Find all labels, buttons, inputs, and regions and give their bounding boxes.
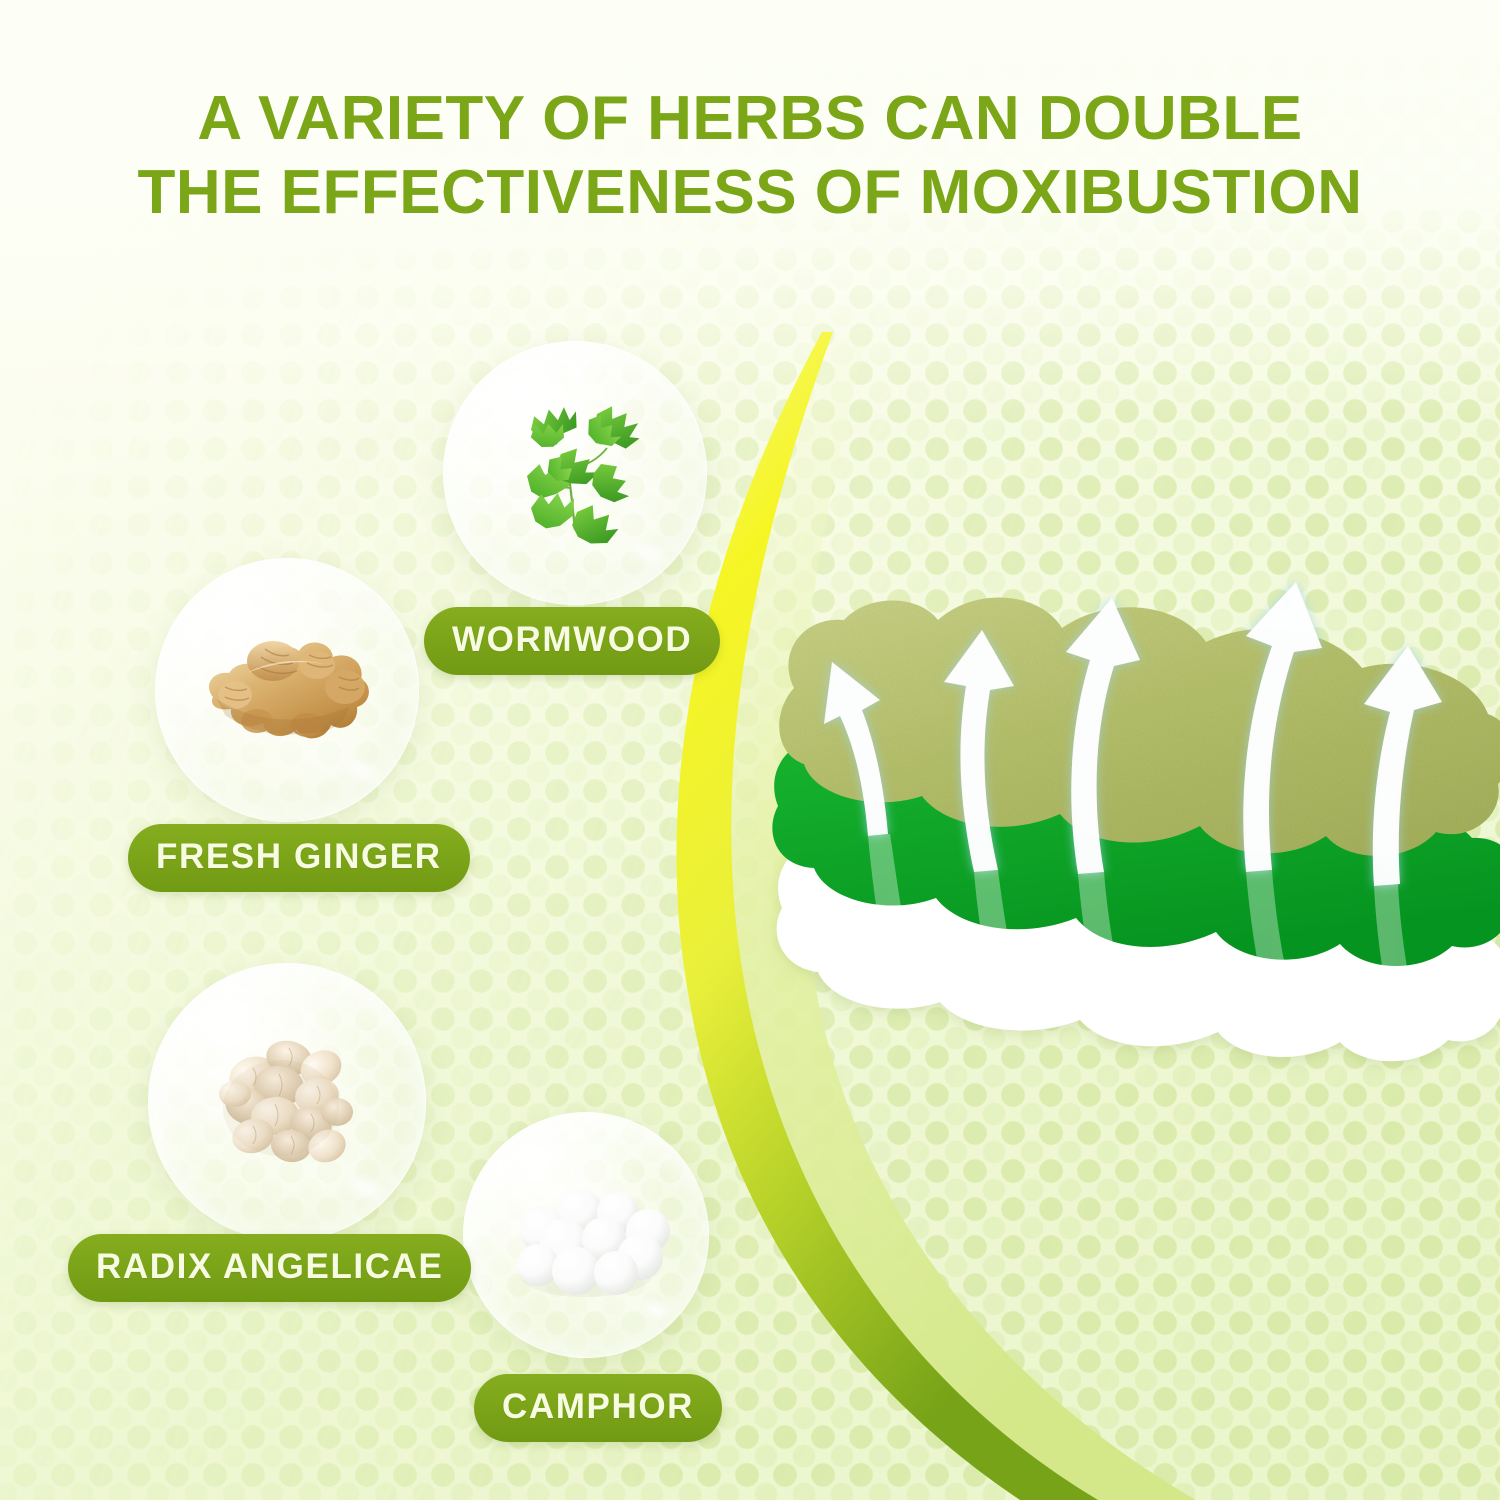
ingredient-label-radix-angelicae[interactable]: RADIX ANGELICAE: [68, 1234, 471, 1302]
ingredient-bubble-camphor[interactable]: [463, 1112, 709, 1358]
moxibustion-patch-diagram: [760, 520, 1500, 1160]
page-title: A VARIETY OF HERBS CAN DOUBLE THE EFFECT…: [0, 82, 1500, 230]
ingredient-bubble-fresh-ginger[interactable]: [155, 558, 419, 822]
angelica-root-slices-icon: [149, 964, 425, 1240]
ingredient-label-camphor[interactable]: CAMPHOR: [474, 1374, 722, 1442]
page-title-line-1: A VARIETY OF HERBS CAN DOUBLE: [0, 82, 1500, 156]
ingredient-label-wormwood[interactable]: WORMWOOD: [424, 607, 720, 675]
camphor-balls-icon: [464, 1113, 708, 1357]
page-title-line-2: THE EFFECTIVENESS OF MOXIBUSTION: [0, 156, 1500, 230]
wormwood-leaf-icon: [444, 342, 706, 604]
ingredient-label-fresh-ginger[interactable]: FRESH GINGER: [128, 824, 470, 892]
ingredient-bubble-wormwood[interactable]: [443, 341, 707, 605]
ingredient-bubble-radix-angelicae[interactable]: [148, 963, 426, 1241]
infographic-canvas: A VARIETY OF HERBS CAN DOUBLE THE EFFECT…: [0, 0, 1500, 1500]
ginger-root-icon: [156, 559, 418, 821]
